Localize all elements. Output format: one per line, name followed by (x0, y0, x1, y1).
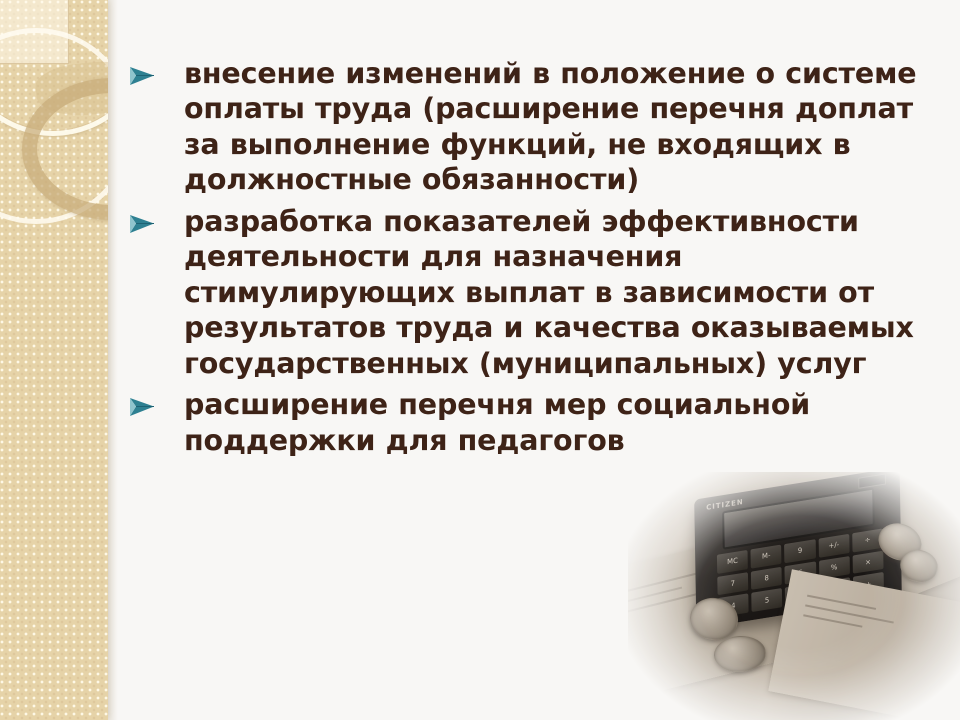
arrow-bullet-icon (128, 387, 184, 418)
list-item-text: разработка показателей эффективности дея… (184, 204, 928, 381)
calculator-key: 9 (784, 539, 815, 563)
calculator-key: M- (751, 545, 782, 569)
list-item-text: расширение перечня мер социальной поддер… (184, 387, 928, 458)
list-item: внесение изменений в положение о системе… (128, 56, 928, 198)
beige-textured-panel (0, 0, 108, 720)
calculator-key: 5 (751, 588, 782, 612)
calculator-key: +/- (818, 534, 849, 558)
bullet-list: внесение изменений в положение о системе… (128, 56, 928, 464)
calculator-key: MC (717, 550, 748, 574)
arrow-bullet-icon (128, 204, 184, 235)
panel-shadow-edge (108, 0, 118, 720)
calculator-key: 7 (717, 572, 748, 596)
calculator-money-photo: CITIZEN MC M- 9 +/- ÷ 7 8 6 % × 4 5 3 (628, 472, 960, 720)
list-item: расширение перечня мер социальной поддер… (128, 387, 928, 458)
arrow-bullet-icon (128, 56, 184, 87)
calculator-key: × (852, 550, 883, 574)
list-item-text: внесение изменений в положение о системе… (184, 56, 928, 198)
slide: внесение изменений в положение о системе… (0, 0, 960, 720)
list-item: разработка показателей эффективности дея… (128, 204, 928, 381)
solar-panel (858, 473, 886, 488)
calculator-key: 8 (751, 566, 782, 590)
